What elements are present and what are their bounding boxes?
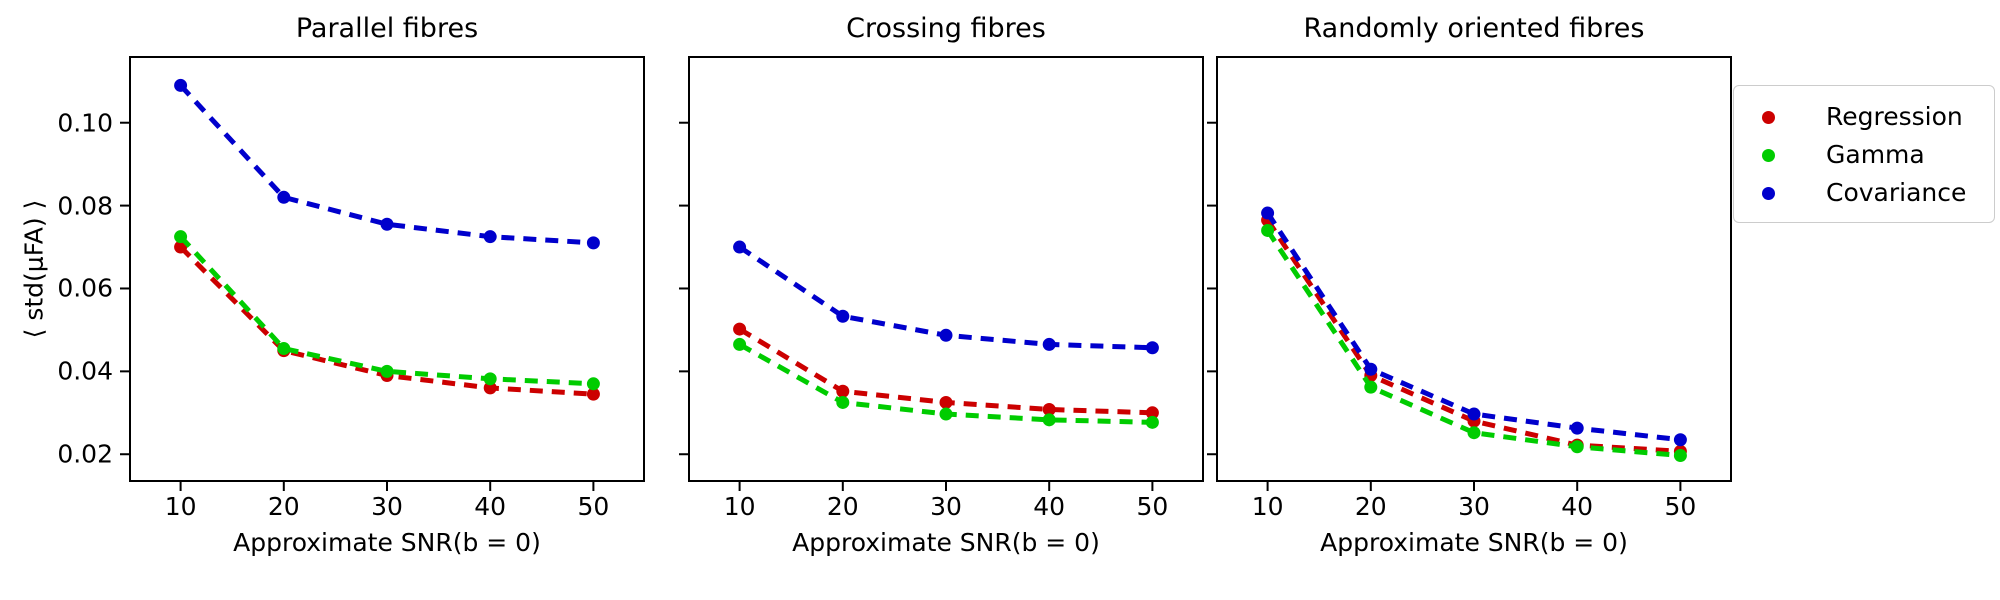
legend-marker-icon [1762,187,1775,200]
x-tick-label: 10 [165,492,197,521]
legend-item[interactable]: Gamma [1734,136,1994,174]
data-point-marker [1261,207,1274,220]
x-axis-title: Approximate SNR(b = 0) [129,528,645,557]
x-tick-label: 30 [930,492,962,521]
legend-item-label: Regression [1826,98,1963,136]
panel-title: Randomly oriented fibres [1216,12,1732,46]
data-point-marker [1146,416,1159,429]
legend-item-label: Covariance [1826,174,1966,212]
data-point-marker [484,230,497,243]
y-axis-title: ⟨ std(μFA) ⟩ [20,200,49,339]
data-point-marker [733,323,746,336]
data-point-marker [1468,408,1481,421]
y-tick-label: 0.08 [0,191,113,220]
data-point-marker [1571,440,1584,453]
data-point-marker [1043,338,1056,351]
legend-marker-icon [1762,111,1775,124]
data-point-marker [1674,449,1687,462]
x-axis-title: Approximate SNR(b = 0) [688,528,1204,557]
data-point-marker [836,385,849,398]
x-tick-label: 30 [1458,492,1490,521]
x-tick-label: 20 [268,492,300,521]
legend-item-label: Gamma [1826,136,1925,174]
data-point-marker [1043,413,1056,426]
x-tick-label: 10 [724,492,756,521]
data-point-marker [940,396,953,409]
data-point-marker [733,241,746,254]
data-point-marker [1364,363,1377,376]
x-tick-label: 20 [827,492,859,521]
plot-drawing-area [129,56,645,482]
data-point-marker [940,329,953,342]
data-point-marker [1674,433,1687,446]
data-point-marker [381,365,394,378]
data-point-marker [277,342,290,355]
legend-box: RegressionGammaCovariance [1733,85,1995,223]
data-point-marker [587,377,600,390]
plot-drawing-area [1216,56,1732,482]
y-tick-label: 0.06 [0,274,113,303]
x-tick-label: 10 [1252,492,1284,521]
data-point-marker [1571,422,1584,435]
data-point-marker [733,338,746,351]
x-tick-label: 40 [1033,492,1065,521]
x-tick-label: 40 [474,492,506,521]
data-point-marker [1261,224,1274,237]
x-tick-label: 20 [1355,492,1387,521]
data-point-marker [1146,341,1159,354]
figure-canvas: ⟨ std(μFA) ⟩ Parallel fibresCrossing fib… [0,0,2000,600]
x-tick-label: 50 [1664,492,1696,521]
x-axis-title: Approximate SNR(b = 0) [1216,528,1732,557]
x-tick-label: 40 [1561,492,1593,521]
legend-marker-icon [1762,149,1775,162]
data-point-marker [836,396,849,409]
data-point-marker [1468,426,1481,439]
data-point-marker [174,79,187,92]
data-point-marker [484,372,497,385]
data-point-marker [940,408,953,421]
chart-panel-1: Parallel fibres [129,56,645,482]
chart-panel-2: Crossing fibres [688,56,1204,482]
x-tick-label: 30 [371,492,403,521]
panel-title: Crossing fibres [688,12,1204,46]
x-tick-label: 50 [1136,492,1168,521]
legend-item[interactable]: Covariance [1734,174,1994,212]
x-tick-label: 50 [577,492,609,521]
data-point-marker [836,310,849,323]
panel-title: Parallel fibres [129,12,645,46]
y-tick-label: 0.04 [0,357,113,386]
legend-item[interactable]: Regression [1734,98,1994,136]
data-point-marker [381,218,394,231]
data-point-marker [1364,381,1377,394]
data-point-marker [587,236,600,249]
data-point-marker [174,230,187,243]
y-tick-label: 0.02 [0,440,113,469]
plot-drawing-area [688,56,1204,482]
data-point-marker [277,191,290,204]
y-tick-label: 0.10 [0,108,113,137]
chart-panel-3: Randomly oriented fibres [1216,56,1732,482]
